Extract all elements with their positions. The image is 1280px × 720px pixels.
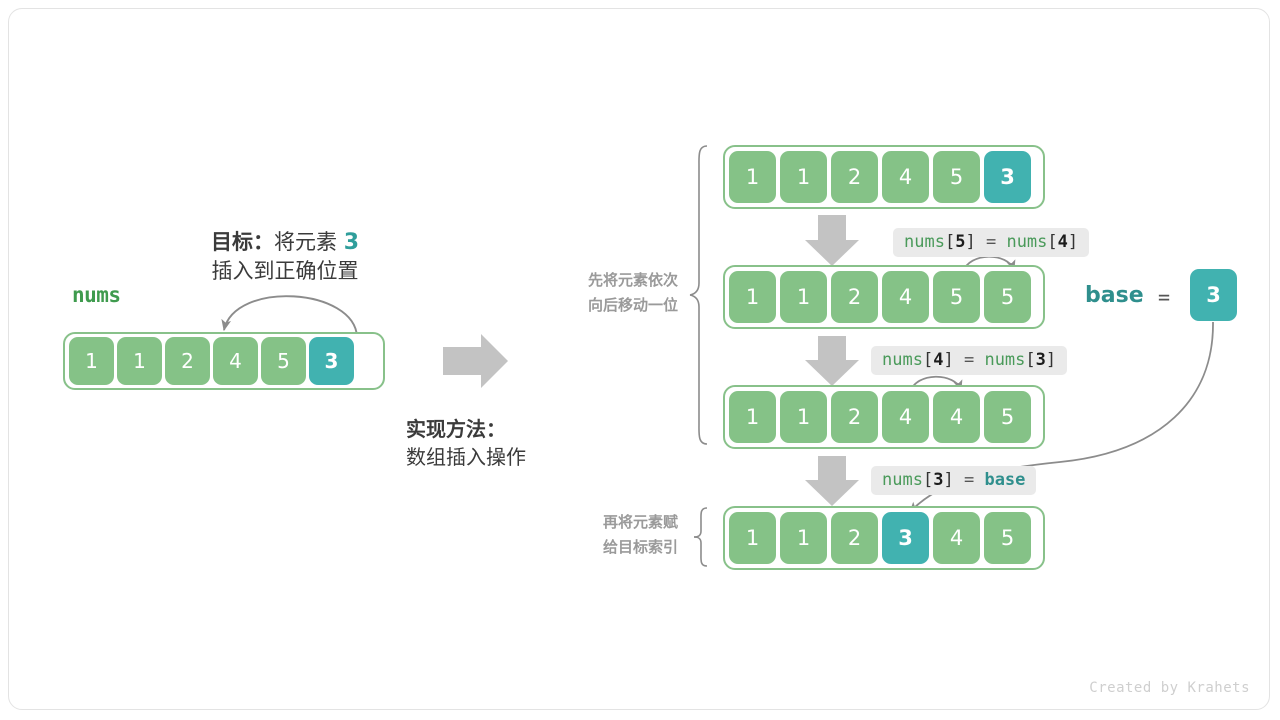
base-label: base: [1085, 283, 1144, 308]
step-1-array: 1 1 2 4 5 3: [723, 145, 1045, 209]
array-cell: 1: [780, 271, 827, 323]
nums-label: nums: [72, 283, 121, 307]
base-equals: =: [1158, 285, 1170, 309]
goal-prefix: 目标：: [211, 230, 274, 254]
code-index-1: 5: [955, 232, 965, 252]
code-chip-step-4: nums[3] = base: [871, 466, 1036, 495]
array-cell: 1: [780, 151, 827, 203]
array-cell: 1: [729, 391, 776, 443]
code-base-ref: base: [984, 470, 1025, 490]
array-cell-highlight: 3: [882, 512, 929, 564]
code-name-1: nums: [882, 350, 923, 370]
array-cell: 1: [729, 151, 776, 203]
code-name-1: nums: [882, 470, 923, 490]
goal-text: 将元素: [274, 230, 337, 254]
method-title: 实现方法：: [406, 415, 526, 443]
note-assign-line-2: 给目标索引: [520, 535, 678, 560]
note-assign: 再将元素赋 给目标索引: [520, 510, 678, 560]
array-cell: 4: [882, 151, 929, 203]
code-index-1: 4: [933, 350, 943, 370]
array-cell-highlight: 3: [309, 337, 354, 385]
method-caption: 实现方法： 数组插入操作: [406, 415, 526, 471]
array-cell: 1: [729, 512, 776, 564]
array-cell: 1: [69, 337, 114, 385]
credit-text: Created by Krahets: [1089, 680, 1250, 696]
goal-line-2: 插入到正确位置: [190, 257, 380, 285]
array-cell: 5: [984, 271, 1031, 323]
array-cell: 1: [780, 391, 827, 443]
array-cell: 4: [933, 391, 980, 443]
array-cell: 1: [117, 337, 162, 385]
array-cell: 5: [933, 151, 980, 203]
array-cell: 1: [780, 512, 827, 564]
method-body: 数组插入操作: [406, 443, 526, 471]
code-chip-step-3: nums[4] = nums[3]: [871, 346, 1067, 375]
code-index-2: 4: [1058, 232, 1068, 252]
goal-line-1: 目标：将元素 3: [190, 228, 380, 257]
array-cell: 4: [933, 512, 980, 564]
base-value-box: 3: [1190, 269, 1237, 321]
array-cell: 2: [831, 151, 878, 203]
code-equals: =: [986, 232, 996, 252]
note-shift-line-1: 先将元素依次: [520, 268, 678, 293]
goal-value: 3: [344, 230, 359, 255]
note-assign-line-1: 再将元素赋: [520, 510, 678, 535]
note-shift: 先将元素依次 向后移动一位: [520, 268, 678, 318]
code-name-2: nums: [1006, 232, 1047, 252]
array-cell: 1: [729, 271, 776, 323]
array-cell: 5: [261, 337, 306, 385]
array-cell-highlight: 3: [984, 151, 1031, 203]
step-2-array: 1 1 2 4 5 5: [723, 265, 1045, 329]
array-cell: 5: [933, 271, 980, 323]
array-cell: 2: [831, 271, 878, 323]
goal-caption: 目标：将元素 3 插入到正确位置: [190, 228, 380, 285]
array-cell: 4: [213, 337, 258, 385]
array-cell: 5: [984, 391, 1031, 443]
code-equals: =: [964, 350, 974, 370]
array-cell: 4: [882, 391, 929, 443]
array-cell: 5: [984, 512, 1031, 564]
array-cell: 4: [882, 271, 929, 323]
array-cell: 2: [831, 512, 878, 564]
code-chip-step-2: nums[5] = nums[4]: [893, 228, 1089, 257]
code-equals: =: [964, 470, 974, 490]
note-shift-line-2: 向后移动一位: [520, 293, 678, 318]
step-4-array: 1 1 2 3 4 5: [723, 506, 1045, 570]
source-array: 1 1 2 4 5 3: [63, 332, 385, 390]
code-index-2: 3: [1036, 350, 1046, 370]
code-index-1: 3: [933, 470, 943, 490]
diagram-canvas: 目标：将元素 3 插入到正确位置 nums 1 1 2 4 5 3 实现方法： …: [0, 0, 1280, 720]
step-3-array: 1 1 2 4 4 5: [723, 385, 1045, 449]
array-cell: 2: [165, 337, 210, 385]
array-cell: 2: [831, 391, 878, 443]
code-name-1: nums: [904, 232, 945, 252]
code-name-2: nums: [984, 350, 1025, 370]
